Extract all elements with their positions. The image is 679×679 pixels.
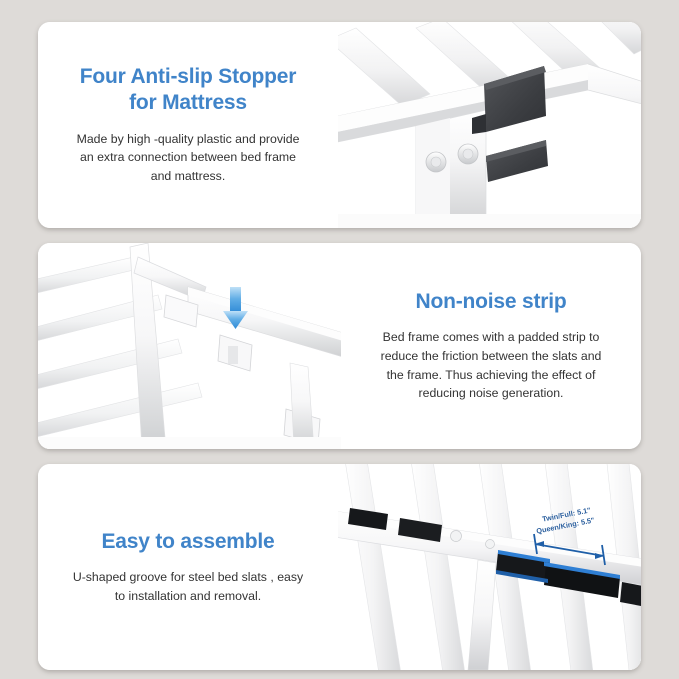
- feature-card-anti-slip-stopper: Four Anti-slip Stopper for Mattress Made…: [38, 22, 641, 228]
- infographic-page: Four Anti-slip Stopper for Mattress Made…: [0, 0, 679, 679]
- feature-card-easy-to-assemble: Easy to assemble U-shaped groove for ste…: [38, 464, 641, 670]
- feature-headline: Four Anti-slip Stopper for Mattress: [80, 64, 296, 115]
- feature-headline-line1: Four Anti-slip Stopper: [80, 65, 296, 88]
- bed-slats-measurement-illustration: [338, 464, 641, 670]
- feature-headline-line2: for Mattress: [129, 91, 247, 114]
- feature-body-text: U-shaped groove for steel bed slats , ea…: [72, 568, 304, 605]
- measurement-value-text: 5.1": [576, 505, 591, 516]
- feature-headline: Easy to assemble: [101, 529, 274, 555]
- bolt: [486, 540, 495, 549]
- measurement-value-text: 5.5": [580, 515, 595, 526]
- feature-image-anti-slip-stopper: [338, 22, 641, 228]
- feature-headline: Non-noise strip: [415, 289, 566, 315]
- feature-image-non-noise-strip: [38, 243, 341, 449]
- feature-text-pane: Non-noise strip Bed frame comes with a p…: [341, 243, 641, 449]
- feature-image-easy-to-assemble: Twin/Full: 5.1" Queen/King: 5.5": [338, 464, 641, 670]
- feature-body-text: Made by high -quality plastic and provid…: [72, 130, 304, 186]
- bed-frame-groove-illustration: [38, 243, 341, 449]
- bolt: [451, 531, 462, 542]
- feature-body-text: Bed frame comes with a padded strip to r…: [375, 328, 607, 403]
- bed-frame-stopper-illustration: [338, 22, 641, 228]
- feature-text-pane: Easy to assemble U-shaped groove for ste…: [38, 464, 338, 670]
- feature-card-non-noise-strip: Non-noise strip Bed frame comes with a p…: [38, 243, 641, 449]
- feature-text-pane: Four Anti-slip Stopper for Mattress Made…: [38, 22, 338, 228]
